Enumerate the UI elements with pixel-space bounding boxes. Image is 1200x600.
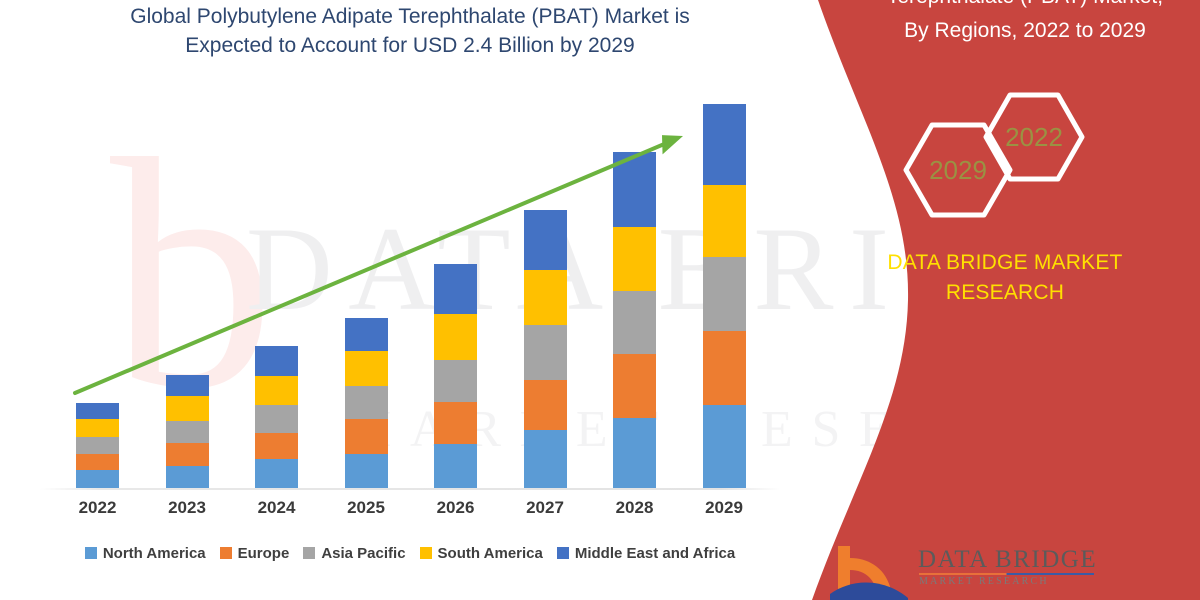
bar-2027 [524, 210, 567, 488]
bar-segment [703, 331, 746, 405]
bar-segment [166, 396, 209, 420]
bar-segment [345, 318, 388, 351]
brand-name: DATA BRIDGE MARKET RESEARCH [840, 248, 1170, 308]
legend-item[interactable]: South America [420, 545, 543, 562]
bar-segment [613, 354, 656, 418]
bar-segment [166, 421, 209, 443]
bar-segment [703, 185, 746, 257]
bar-segment [613, 418, 656, 488]
bar-2026 [434, 264, 477, 488]
legend-item[interactable]: Europe [220, 545, 290, 562]
bar-2029 [703, 104, 746, 488]
legend-swatch-icon [303, 547, 315, 559]
brand-name-line-2: RESEARCH [840, 278, 1170, 308]
legend-label: Middle East and Africa [575, 545, 735, 562]
panel-title-line-1: Terephthalate (PBAT) Market, [860, 0, 1190, 14]
bar-segment [166, 466, 209, 488]
infographic-canvas: b DATA BRIDGE MARKET RESEARCH Global Pol… [0, 0, 1200, 600]
bar-segment [76, 437, 119, 454]
bar-segment [255, 346, 298, 376]
bar-segment [345, 351, 388, 386]
bar-2024 [255, 346, 298, 488]
x-tick-2028: 2028 [595, 498, 675, 518]
hexagon-2022-label: 2022 [1005, 122, 1063, 152]
bar-segment [703, 405, 746, 488]
bar-2028 [613, 152, 656, 488]
bar-segment [524, 380, 567, 431]
bar-segment [524, 325, 567, 379]
bar-segment [166, 375, 209, 396]
bar-segment [76, 419, 119, 437]
logo-wordmark: DATA BRIDGE [918, 546, 1097, 574]
bar-segment [434, 360, 477, 402]
page-title-line-2: Expected to Account for USD 2.4 Billion … [40, 31, 780, 60]
x-tick-2024: 2024 [237, 498, 317, 518]
chart-legend: North AmericaEuropeAsia PacificSouth Ame… [0, 538, 820, 568]
legend-label: North America [103, 545, 206, 562]
panel-title-line-2: By Regions, 2022 to 2029 [860, 14, 1190, 48]
bar-2025 [345, 318, 388, 488]
page-title: Global Polybutylene Adipate Terephthalat… [40, 2, 780, 60]
brand-name-line-1: DATA BRIDGE MARKET [840, 248, 1170, 278]
logo-tagline: MARKET RESEARCH [919, 576, 1049, 587]
x-tick-2025: 2025 [326, 498, 406, 518]
bar-segment [76, 454, 119, 471]
bar-segment [524, 430, 567, 488]
x-tick-2029: 2029 [684, 498, 764, 518]
x-tick-2023: 2023 [147, 498, 227, 518]
panel-title: Terephthalate (PBAT) Market, By Regions,… [860, 0, 1190, 48]
bar-segment [613, 291, 656, 354]
bar-segment [613, 227, 656, 291]
page-title-line-1: Global Polybutylene Adipate Terephthalat… [40, 2, 780, 31]
brand-panel: Terephthalate (PBAT) Market, By Regions,… [800, 0, 1200, 600]
bar-segment [166, 443, 209, 466]
bar-segment [703, 104, 746, 185]
bar-segment [76, 403, 119, 420]
bar-plot-area [0, 84, 820, 488]
bar-segment [255, 433, 298, 460]
bar-segment [434, 402, 477, 444]
x-tick-2027: 2027 [505, 498, 585, 518]
legend-swatch-icon [420, 547, 432, 559]
bar-segment [524, 210, 567, 270]
legend-swatch-icon [85, 547, 97, 559]
bar-segment [434, 264, 477, 314]
bar-segment [255, 376, 298, 405]
bar-2022 [76, 403, 119, 488]
stacked-bar-chart [0, 80, 820, 490]
legend-swatch-icon [557, 547, 569, 559]
x-axis-line [40, 488, 780, 490]
bar-segment [345, 419, 388, 453]
bar-segment [345, 454, 388, 488]
legend-item[interactable]: North America [85, 545, 206, 562]
x-axis-tick-labels: 20222023202420252026202720282029 [0, 498, 820, 526]
legend-label: Europe [238, 545, 290, 562]
bar-segment [524, 270, 567, 325]
bar-segment [255, 459, 298, 488]
hexagon-2029-label: 2029 [929, 155, 987, 185]
x-tick-2026: 2026 [416, 498, 496, 518]
bar-segment [345, 386, 388, 419]
legend-item[interactable]: Middle East and Africa [557, 545, 735, 562]
legend-item[interactable]: Asia Pacific [303, 545, 405, 562]
bar-segment [613, 152, 656, 227]
legend-label: Asia Pacific [321, 545, 405, 562]
legend-label: South America [438, 545, 543, 562]
bar-segment [76, 470, 119, 488]
bar-segment [434, 444, 477, 488]
bridge-logo-icon [830, 542, 910, 600]
bar-segment [434, 314, 477, 359]
logo-divider [919, 573, 1094, 575]
hexagon-badges: 2022 2029 [890, 85, 1120, 245]
data-bridge-logo: DATA BRIDGE MARKET RESEARCH [830, 540, 1170, 600]
bar-segment [703, 257, 746, 331]
x-tick-2022: 2022 [58, 498, 138, 518]
bar-2023 [166, 375, 209, 488]
legend-swatch-icon [220, 547, 232, 559]
bar-segment [255, 405, 298, 433]
